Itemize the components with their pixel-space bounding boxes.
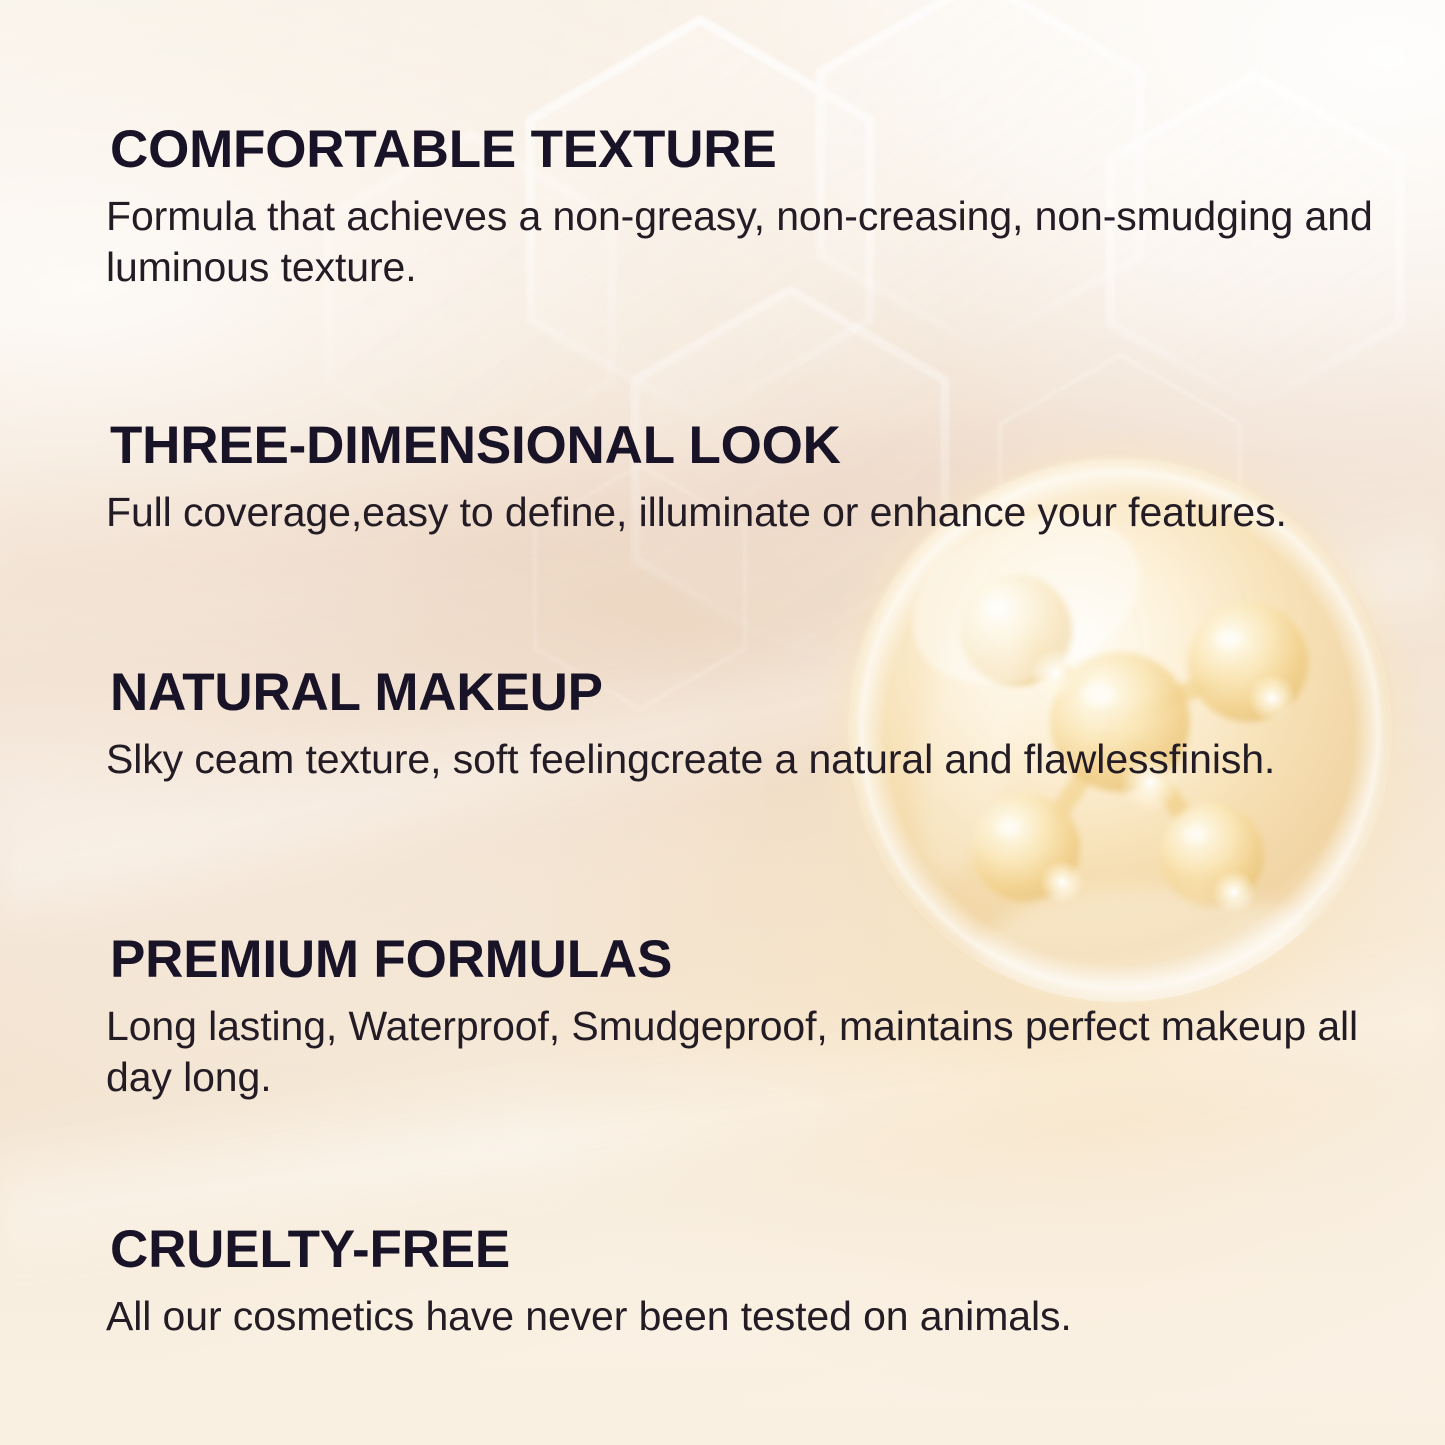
feature-block-natural-makeup: NATURAL MAKEUP Slky ceam texture, soft f… bbox=[106, 665, 1376, 785]
feature-title: COMFORTABLE TEXTURE bbox=[110, 122, 1376, 177]
feature-description: All our cosmetics have never been tested… bbox=[106, 1291, 1376, 1342]
feature-title: THREE-DIMENSIONAL LOOK bbox=[110, 418, 1376, 473]
feature-block-comfortable-texture: COMFORTABLE TEXTURE Formula that achieve… bbox=[106, 122, 1376, 293]
feature-title: NATURAL MAKEUP bbox=[110, 665, 1376, 720]
feature-block-cruelty-free: CRUELTY-FREE All our cosmetics have neve… bbox=[106, 1222, 1376, 1342]
feature-block-three-dimensional-look: THREE-DIMENSIONAL LOOK Full coverage,eas… bbox=[106, 418, 1376, 538]
feature-poster: COMFORTABLE TEXTURE Formula that achieve… bbox=[0, 0, 1445, 1445]
feature-description: Full coverage,easy to define, illuminate… bbox=[106, 487, 1376, 538]
feature-description: Formula that achieves a non-greasy, non-… bbox=[106, 191, 1376, 293]
feature-description: Long lasting, Waterproof, Smudgeproof, m… bbox=[106, 1001, 1376, 1103]
feature-block-premium-formulas: PREMIUM FORMULAS Long lasting, Waterproo… bbox=[106, 932, 1376, 1103]
feature-title: CRUELTY-FREE bbox=[110, 1222, 1376, 1277]
feature-list: COMFORTABLE TEXTURE Formula that achieve… bbox=[0, 0, 1445, 1445]
feature-description: Slky ceam texture, soft feelingcreate a … bbox=[106, 734, 1376, 785]
feature-title: PREMIUM FORMULAS bbox=[110, 932, 1376, 987]
